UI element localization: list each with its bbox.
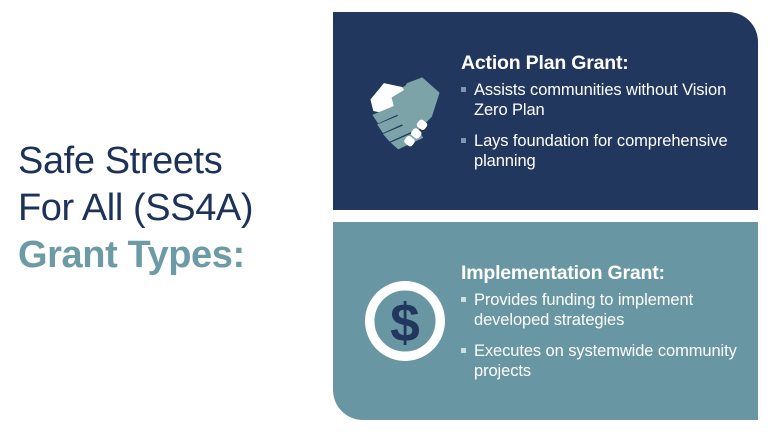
bullet-item: Assists communities without Vision Zero …: [461, 80, 740, 121]
slide-canvas: Safe Streets For All (SS4A) Grant Types:: [0, 0, 770, 432]
card-body-implementation-grant: Implementation Grant: Provides funding t…: [461, 261, 748, 382]
bullet-text: Lays foundation for comprehensive planni…: [474, 132, 728, 171]
card-heading-implementation-grant: Implementation Grant:: [461, 261, 744, 285]
bullet-square-icon: [461, 87, 466, 92]
page-title: Safe Streets For All (SS4A) Grant Types:: [18, 138, 328, 279]
card-implementation-grant: $ Implementation Grant: Provides funding…: [333, 222, 758, 420]
bullet-list-action-plan-grant: Assists communities without Vision Zero …: [461, 80, 740, 172]
bullet-square-icon: [461, 297, 466, 302]
card-action-plan-grant: Action Plan Grant: Assists communities w…: [333, 12, 758, 210]
bullet-square-icon: [461, 348, 466, 353]
grant-type-cards: Action Plan Grant: Assists communities w…: [333, 12, 758, 420]
bullet-square-icon: [461, 138, 466, 143]
bullet-text: Executes on systemwide community project…: [474, 342, 737, 381]
handshake-icon: [349, 63, 461, 159]
card-heading-action-plan-grant: Action Plan Grant:: [461, 51, 740, 75]
bullet-list-implementation-grant: Provides funding to implement developed …: [461, 290, 744, 382]
dollar-circle-icon: $: [349, 278, 461, 364]
title-line-1: Safe Streets: [18, 138, 328, 185]
svg-text:$: $: [390, 294, 420, 353]
card-body-action-plan-grant: Action Plan Grant: Assists communities w…: [461, 51, 744, 172]
bullet-item: Provides funding to implement developed …: [461, 290, 744, 331]
bullet-text: Assists communities without Vision Zero …: [474, 81, 726, 120]
bullet-text: Provides funding to implement developed …: [474, 291, 693, 330]
title-line-3: Grant Types:: [18, 232, 328, 279]
bullet-item: Lays foundation for comprehensive planni…: [461, 131, 740, 172]
bullet-item: Executes on systemwide community project…: [461, 341, 744, 382]
title-line-2: For All (SS4A): [18, 185, 328, 232]
